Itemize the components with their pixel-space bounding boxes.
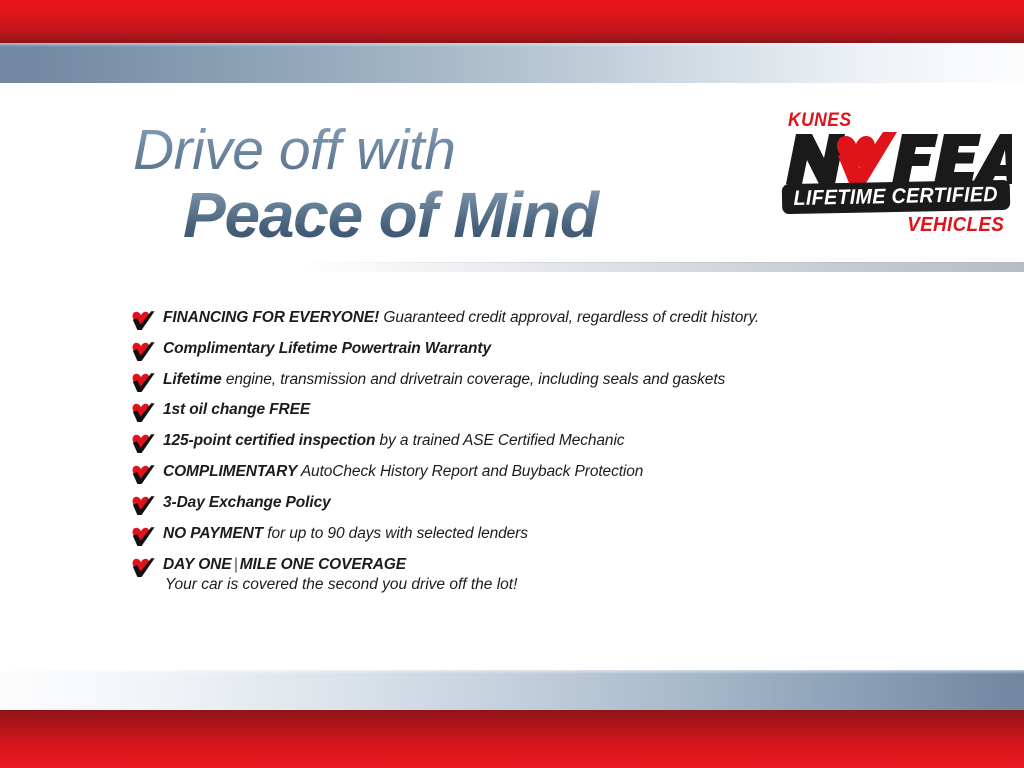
list-item-emphasis-2: MILE ONE COVERAGE	[240, 556, 406, 573]
list-item-text: DAY ONE|MILE ONE COVERAGE	[163, 555, 931, 575]
top-gray-band	[0, 43, 1024, 83]
promo-graphic: Drive off with Peace of Mind KUNES	[0, 0, 1024, 768]
list-item-text: 1st oil change FREE	[163, 400, 931, 420]
hero-divider	[300, 262, 1024, 272]
list-item: COMPLIMENTARY AutoCheck History Report a…	[131, 462, 931, 482]
list-item-rest: for up to 90 days with selected lenders	[263, 525, 528, 542]
list-item-emphasis: FINANCING FOR EVERYONE!	[163, 309, 379, 326]
heart-check-icon	[131, 402, 155, 423]
list-item-text: Complimentary Lifetime Powertrain Warran…	[163, 339, 931, 359]
heart-check-icon	[131, 433, 155, 454]
heart-check-icon	[131, 464, 155, 485]
list-item-rest: Guaranteed credit approval, regardless o…	[379, 309, 759, 326]
top-red-band	[0, 0, 1024, 43]
benefits-list: FINANCING FOR EVERYONE! Guaranteed credi…	[131, 308, 931, 596]
heart-check-icon	[131, 341, 155, 362]
list-item: FINANCING FOR EVERYONE! Guaranteed credi…	[131, 308, 931, 328]
list-item-emphasis: COMPLIMENTARY	[163, 463, 297, 480]
heart-check-logo-mark	[837, 132, 897, 188]
headline-line-1: Drive off with	[133, 122, 753, 179]
list-item-text: FINANCING FOR EVERYONE! Guaranteed credi…	[163, 308, 931, 328]
list-item-text: 3-Day Exchange Policy	[163, 493, 931, 513]
list-item-emphasis: NO PAYMENT	[163, 525, 263, 542]
heart-check-icon	[131, 495, 155, 516]
logo-bar-text: LIFETIME CERTIFIED	[794, 183, 999, 211]
list-item-emphasis: 125-point certified inspection	[163, 432, 375, 449]
kunes-no-fear-logo: KUNES LIFETIME CERTIFIED	[776, 110, 1012, 242]
logo-footer-vehicles: VEHICLES	[907, 214, 1004, 237]
list-item: DAY ONE|MILE ONE COVERAGE Your car is co…	[131, 555, 931, 596]
list-item: Complimentary Lifetime Powertrain Warran…	[131, 339, 931, 359]
list-item-rest: by a trained ASE Certified Mechanic	[375, 432, 624, 449]
list-item-text: 125-point certified inspection by a trai…	[163, 431, 931, 451]
list-item-text: Lifetime engine, transmission and drivet…	[163, 370, 931, 390]
heart-check-icon	[131, 310, 155, 331]
list-item-emphasis: Complimentary Lifetime Powertrain Warran…	[163, 340, 491, 357]
heart-check-icon	[131, 372, 155, 393]
list-item: 3-Day Exchange Policy	[131, 493, 931, 513]
headline-block: Drive off with Peace of Mind	[133, 122, 753, 250]
headline-line-2: Peace of Mind	[133, 181, 753, 250]
list-item: NO PAYMENT for up to 90 days with select…	[131, 524, 931, 544]
list-item-emphasis: DAY ONE	[163, 556, 232, 573]
list-item-text: COMPLIMENTARY AutoCheck History Report a…	[163, 462, 931, 482]
bottom-gray-band	[0, 670, 1024, 710]
list-item: Lifetime engine, transmission and drivet…	[131, 370, 931, 390]
list-item-rest: engine, transmission and drivetrain cove…	[222, 371, 726, 388]
list-item-emphasis: 3-Day Exchange Policy	[163, 494, 331, 511]
bottom-red-band	[0, 710, 1024, 768]
list-item-text: NO PAYMENT for up to 90 days with select…	[163, 524, 931, 544]
logo-lifetime-certified-bar: LIFETIME CERTIFIED	[782, 180, 1011, 214]
heart-check-icon	[131, 526, 155, 547]
list-item-separator: |	[232, 556, 240, 573]
list-item: 1st oil change FREE	[131, 400, 931, 420]
list-item-emphasis: Lifetime	[163, 371, 222, 388]
list-item-emphasis: 1st oil change FREE	[163, 401, 310, 418]
list-item-rest: AutoCheck History Report and Buyback Pro…	[297, 463, 643, 480]
list-item-subtext: Your car is covered the second you drive…	[163, 575, 931, 595]
heart-check-icon	[131, 557, 155, 578]
list-item: 125-point certified inspection by a trai…	[131, 431, 931, 451]
